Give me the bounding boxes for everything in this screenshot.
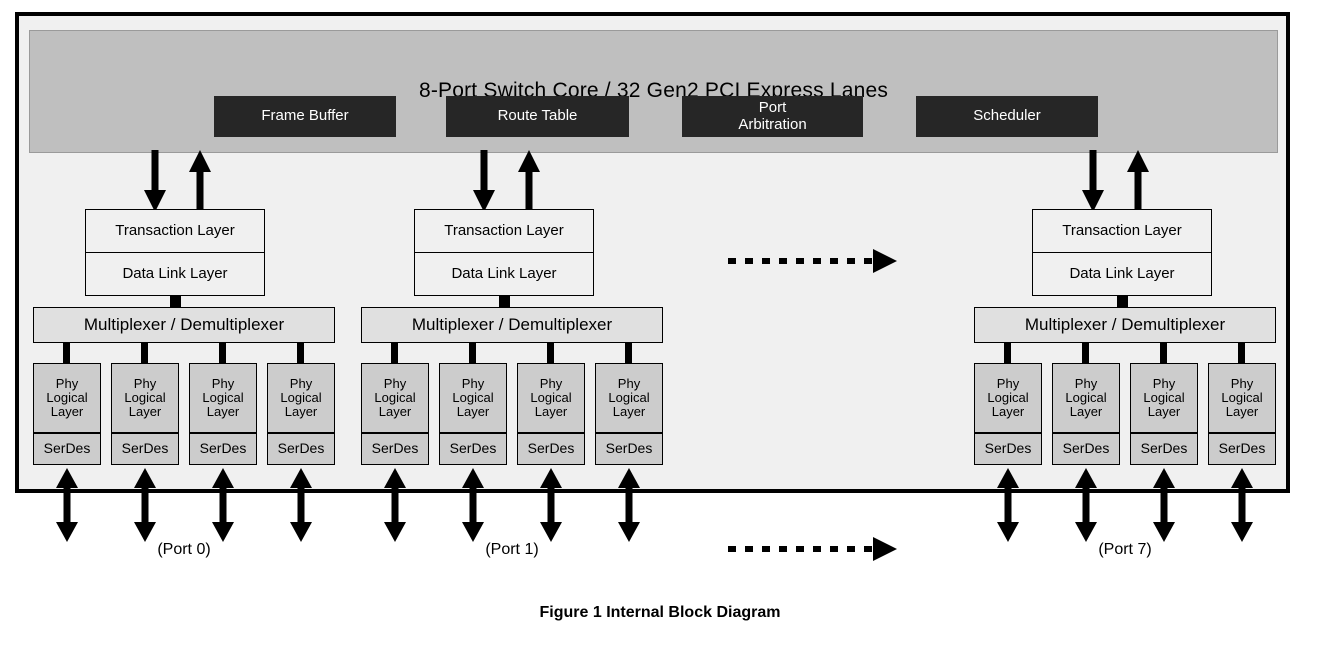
phy-label-line2: Logical (987, 391, 1028, 405)
port-7-lane-2-connector (1160, 343, 1167, 363)
port-1-lane-3-external-link (614, 468, 644, 542)
serdes-label: SerDes (278, 441, 325, 456)
port-1-lane-3-serdes[interactable]: SerDes (595, 433, 663, 465)
serdes-label: SerDes (1063, 441, 1110, 456)
port-1-lane-1-serdes[interactable]: SerDes (439, 433, 507, 465)
port-1-lane-1-connector (469, 343, 476, 363)
port-0-lane-3-phy-logical-layer[interactable]: Phy Logical Layer (267, 363, 335, 433)
port-7-lane-3-phy-logical-layer[interactable]: Phy Logical Layer (1208, 363, 1276, 433)
port-7-lane-3-connector (1238, 343, 1245, 363)
phy-label-line2: Logical (530, 391, 571, 405)
core-block-port-arbitration-label-line1: Port (759, 100, 787, 117)
phy-label-line2: Logical (1221, 391, 1262, 405)
port-7-lane-0-phy-logical-layer[interactable]: Phy Logical Layer (974, 363, 1042, 433)
port-0-lane-1-serdes[interactable]: SerDes (111, 433, 179, 465)
phy-label-line1: Phy (540, 377, 562, 391)
serdes-label: SerDes (450, 441, 497, 456)
port-1-multiplexer-label: Multiplexer / Demultiplexer (412, 316, 612, 335)
port-0-lane-3-serdes[interactable]: SerDes (267, 433, 335, 465)
phy-label-line3: Layer (1070, 405, 1103, 419)
port-0-data-link-layer[interactable]: Data Link Layer (85, 252, 265, 296)
phy-label-line1: Phy (56, 377, 78, 391)
port-0-lane-0-phy-logical-layer[interactable]: Phy Logical Layer (33, 363, 101, 433)
port-1-transaction-layer-label: Transaction Layer (444, 223, 564, 240)
phy-label-line1: Phy (1075, 377, 1097, 391)
port-0-lane-2-connector (219, 343, 226, 363)
phy-label-line1: Phy (134, 377, 156, 391)
port-1-multiplexer[interactable]: Multiplexer / Demultiplexer (361, 307, 663, 343)
port-7-lane-1-serdes[interactable]: SerDes (1052, 433, 1120, 465)
core-block-frame-buffer-label: Frame Buffer (261, 108, 348, 125)
port-1-lane-2-phy-logical-layer[interactable]: Phy Logical Layer (517, 363, 585, 433)
port-1-lane-3-phy-logical-layer[interactable]: Phy Logical Layer (595, 363, 663, 433)
phy-label-line3: Layer (457, 405, 490, 419)
port-0-lane-2-external-link (208, 468, 238, 542)
phy-label-line2: Logical (1143, 391, 1184, 405)
phy-label-line3: Layer (51, 405, 84, 419)
core-block-frame-buffer[interactable]: Frame Buffer (214, 96, 396, 137)
figure-caption: Figure 1 Internal Block Diagram (0, 604, 1320, 622)
phy-label-line3: Layer (285, 405, 318, 419)
port-1-lane-1-phy-logical-layer[interactable]: Phy Logical Layer (439, 363, 507, 433)
phy-label-line1: Phy (997, 377, 1019, 391)
serdes-label: SerDes (1219, 441, 1266, 456)
core-block-port-arbitration[interactable]: Port Arbitration (682, 96, 863, 137)
port-0-lane-3-connector (297, 343, 304, 363)
port-1-lane-0-connector (391, 343, 398, 363)
port-7-transaction-layer[interactable]: Transaction Layer (1032, 209, 1212, 253)
port-7-multiplexer[interactable]: Multiplexer / Demultiplexer (974, 307, 1276, 343)
port-7-data-link-layer[interactable]: Data Link Layer (1032, 252, 1212, 296)
port-0-transaction-layer[interactable]: Transaction Layer (85, 209, 265, 253)
phy-label-line3: Layer (379, 405, 412, 419)
phy-label-line2: Logical (124, 391, 165, 405)
phy-label-line3: Layer (1226, 405, 1259, 419)
serdes-label: SerDes (200, 441, 247, 456)
serdes-label: SerDes (528, 441, 575, 456)
port-1-core-link-arrows (469, 150, 549, 214)
port-1-data-link-layer[interactable]: Data Link Layer (414, 252, 594, 296)
port-7-transaction-layer-label: Transaction Layer (1062, 223, 1182, 240)
port-7-label: (Port 7) (1045, 541, 1205, 559)
serdes-label: SerDes (122, 441, 169, 456)
port-0-lane-2-phy-logical-layer[interactable]: Phy Logical Layer (189, 363, 257, 433)
phy-label-line2: Logical (1065, 391, 1106, 405)
phy-label-line3: Layer (613, 405, 646, 419)
phy-label-line1: Phy (618, 377, 640, 391)
port-0-core-link-arrows (140, 150, 220, 214)
serdes-label: SerDes (44, 441, 91, 456)
phy-label-line2: Logical (608, 391, 649, 405)
port-7-lane-3-external-link (1227, 468, 1257, 542)
phy-label-line3: Layer (535, 405, 568, 419)
port-0-lane-0-connector (63, 343, 70, 363)
port-1-lane-2-serdes[interactable]: SerDes (517, 433, 585, 465)
switch-core-region: 8-Port Switch Core / 32 Gen2 PCI Express… (29, 30, 1278, 153)
port-0-lane-2-serdes[interactable]: SerDes (189, 433, 257, 465)
port-0-multiplexer-label: Multiplexer / Demultiplexer (84, 316, 284, 335)
core-block-port-arbitration-label-line2: Arbitration (738, 117, 806, 134)
serdes-label: SerDes (372, 441, 419, 456)
port-1-lane-0-serdes[interactable]: SerDes (361, 433, 429, 465)
serdes-label: SerDes (606, 441, 653, 456)
phy-label-line2: Logical (374, 391, 415, 405)
phy-label-line2: Logical (452, 391, 493, 405)
port-1-lane-2-connector (547, 343, 554, 363)
port-7-data-link-layer-label: Data Link Layer (1069, 266, 1174, 283)
port-7-core-link-arrows (1078, 150, 1158, 214)
port-0-lane-0-serdes[interactable]: SerDes (33, 433, 101, 465)
serdes-label: SerDes (1141, 441, 1188, 456)
port-1-lane-0-phy-logical-layer[interactable]: Phy Logical Layer (361, 363, 429, 433)
serdes-label: SerDes (985, 441, 1032, 456)
phy-label-line2: Logical (46, 391, 87, 405)
port-7-lane-1-connector (1082, 343, 1089, 363)
port-1-label: (Port 1) (432, 541, 592, 559)
phy-label-line1: Phy (1231, 377, 1253, 391)
core-block-scheduler[interactable]: Scheduler (916, 96, 1098, 137)
phy-label-line3: Layer (207, 405, 240, 419)
block-diagram-canvas: 8-Port Switch Core / 32 Gen2 PCI Express… (0, 0, 1320, 648)
ports-continuation-arrow-upper (725, 248, 905, 274)
port-7-lane-0-external-link (993, 468, 1023, 542)
phy-label-line2: Logical (202, 391, 243, 405)
phy-label-line1: Phy (212, 377, 234, 391)
port-0-lane-1-connector (141, 343, 148, 363)
phy-label-line1: Phy (1153, 377, 1175, 391)
phy-label-line1: Phy (462, 377, 484, 391)
port-7-lane-2-external-link (1149, 468, 1179, 542)
port-1-transaction-layer[interactable]: Transaction Layer (414, 209, 594, 253)
port-0-data-link-layer-label: Data Link Layer (122, 266, 227, 283)
core-block-route-table[interactable]: Route Table (446, 96, 629, 137)
port-7-lane-2-serdes[interactable]: SerDes (1130, 433, 1198, 465)
core-block-scheduler-label: Scheduler (973, 108, 1041, 125)
port-0-lane-1-external-link (130, 468, 160, 542)
port-0-lane-3-external-link (286, 468, 316, 542)
phy-label-line3: Layer (129, 405, 162, 419)
core-block-route-table-label: Route Table (498, 108, 578, 125)
port-0-lane-0-external-link (52, 468, 82, 542)
phy-label-line3: Layer (992, 405, 1025, 419)
port-1-lane-2-external-link (536, 468, 566, 542)
phy-label-line1: Phy (384, 377, 406, 391)
phy-label-line3: Layer (1148, 405, 1181, 419)
port-0-lane-1-phy-logical-layer[interactable]: Phy Logical Layer (111, 363, 179, 433)
port-7-lane-3-serdes[interactable]: SerDes (1208, 433, 1276, 465)
port-7-lane-1-external-link (1071, 468, 1101, 542)
port-7-lane-1-phy-logical-layer[interactable]: Phy Logical Layer (1052, 363, 1120, 433)
port-1-lane-3-connector (625, 343, 632, 363)
port-0-label: (Port 0) (104, 541, 264, 559)
phy-label-line1: Phy (290, 377, 312, 391)
port-1-lane-0-external-link (380, 468, 410, 542)
ports-continuation-arrow-lower (725, 536, 905, 562)
port-1-data-link-layer-label: Data Link Layer (451, 266, 556, 283)
port-7-multiplexer-label: Multiplexer / Demultiplexer (1025, 316, 1225, 335)
port-0-multiplexer[interactable]: Multiplexer / Demultiplexer (33, 307, 335, 343)
phy-label-line2: Logical (280, 391, 321, 405)
port-0-transaction-layer-label: Transaction Layer (115, 223, 235, 240)
port-7-lane-2-phy-logical-layer[interactable]: Phy Logical Layer (1130, 363, 1198, 433)
port-7-lane-0-serdes[interactable]: SerDes (974, 433, 1042, 465)
port-1-lane-1-external-link (458, 468, 488, 542)
port-7-lane-0-connector (1004, 343, 1011, 363)
